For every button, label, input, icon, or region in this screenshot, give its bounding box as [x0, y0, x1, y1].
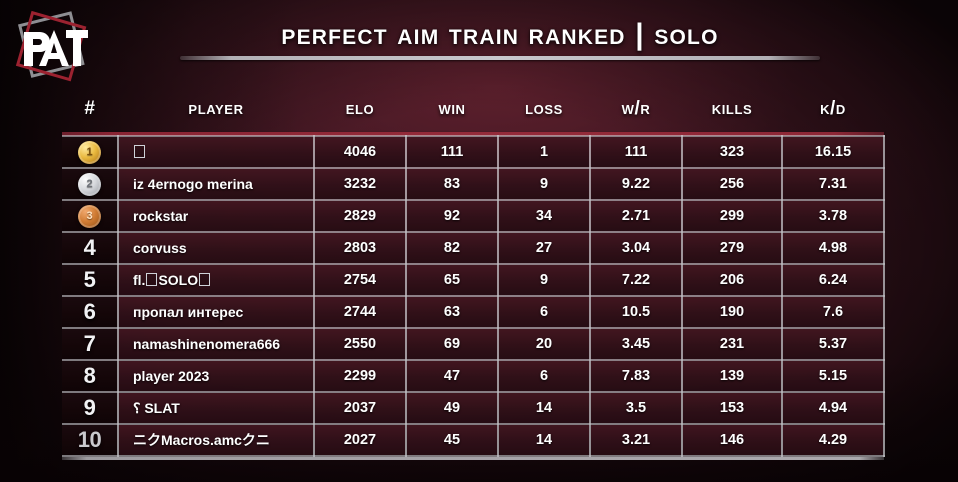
cell-player-name[interactable]: corvuss: [118, 232, 314, 264]
missing-glyph-box: [199, 273, 210, 286]
table-row[interactable]: 5fl.SOLO27546597.222066.24: [62, 264, 884, 296]
cell-rank: 1: [62, 136, 118, 168]
cell-rank: 10: [62, 424, 118, 456]
cell-win: 49: [406, 392, 498, 424]
cell-win: 63: [406, 296, 498, 328]
silver-medal-icon: 2: [78, 173, 101, 196]
cell-rank: 5: [62, 264, 118, 296]
cell-loss: 6: [498, 296, 590, 328]
cell-win-rate: 7.22: [590, 264, 682, 296]
cell-win: 82: [406, 232, 498, 264]
cell-win: 111: [406, 136, 498, 168]
cell-loss: 14: [498, 392, 590, 424]
cell-loss: 9: [498, 168, 590, 200]
cell-win-rate: 10.5: [590, 296, 682, 328]
cell-kills: 146: [682, 424, 782, 456]
rank-number: 4: [84, 237, 96, 259]
medal-rank-number: 1: [86, 146, 92, 158]
rank-number: 5: [84, 269, 96, 291]
rank-number: 9: [84, 397, 96, 419]
cell-rank: 9: [62, 392, 118, 424]
cell-win: 45: [406, 424, 498, 456]
rank-number: 10: [78, 429, 101, 451]
cell-loss: 34: [498, 200, 590, 232]
cell-elo: 2803: [314, 232, 406, 264]
cell-rank: 7: [62, 328, 118, 360]
table-row[interactable]: 8player 202322994767.831395.15: [62, 360, 884, 392]
missing-glyph-box: [134, 145, 145, 158]
rank-number: 8: [84, 365, 96, 387]
table-row[interactable]: 2iz 4ernogo merina32328399.222567.31: [62, 168, 884, 200]
title-underline: [180, 56, 820, 60]
cell-loss: 27: [498, 232, 590, 264]
cell-elo: 2027: [314, 424, 406, 456]
cell-win-rate: 9.22: [590, 168, 682, 200]
cell-rank: 6: [62, 296, 118, 328]
cell-loss: 6: [498, 360, 590, 392]
cell-kills: 256: [682, 168, 782, 200]
table-bottom-rule: [62, 457, 884, 460]
cell-win-rate: 3.45: [590, 328, 682, 360]
page-title-wrap: Perfect Aim Train Ranked | SOLO: [160, 18, 840, 60]
cell-rank: 3: [62, 200, 118, 232]
column-header-loss[interactable]: Loss: [498, 92, 590, 132]
pat-monogram-logo-icon: [12, 8, 96, 86]
cell-kd: 5.15: [782, 360, 884, 392]
cell-kills: 153: [682, 392, 782, 424]
cell-win-rate: 2.71: [590, 200, 682, 232]
cell-elo: 3232: [314, 168, 406, 200]
cell-kills: 206: [682, 264, 782, 296]
table-row[interactable]: 3rockstar282992342.712993.78: [62, 200, 884, 232]
column-header-player[interactable]: Player: [118, 92, 314, 132]
cell-kills: 299: [682, 200, 782, 232]
cell-win: 92: [406, 200, 498, 232]
leaderboard-table: # Player Elo Win Loss W/R Kills K/D 1404…: [62, 92, 885, 457]
missing-glyph-box: [146, 273, 157, 286]
cell-loss: 20: [498, 328, 590, 360]
cell-elo: 2744: [314, 296, 406, 328]
page-title: Perfect Aim Train Ranked | SOLO: [160, 18, 840, 52]
leaderboard: # Player Elo Win Loss W/R Kills K/D 1404…: [62, 92, 884, 460]
table-row[interactable]: 9؟ SLAT203749143.51534.94: [62, 392, 884, 424]
cell-loss: 14: [498, 424, 590, 456]
cell-player-name[interactable]: fl.SOLO: [118, 264, 314, 296]
cell-rank: 8: [62, 360, 118, 392]
cell-elo: 2754: [314, 264, 406, 296]
cell-win: 69: [406, 328, 498, 360]
cell-kd: 4.29: [782, 424, 884, 456]
cell-rank: 4: [62, 232, 118, 264]
cell-kd: 4.94: [782, 392, 884, 424]
cell-elo: 2550: [314, 328, 406, 360]
cell-player-name[interactable]: пропал интерес: [118, 296, 314, 328]
column-header-wr[interactable]: W/R: [590, 92, 682, 132]
cell-loss: 9: [498, 264, 590, 296]
cell-rank: 2: [62, 168, 118, 200]
cell-loss: 1: [498, 136, 590, 168]
table-row[interactable]: 7namashinenomera666255069203.452315.37: [62, 328, 884, 360]
gold-medal-icon: 1: [78, 141, 101, 164]
column-header-kd[interactable]: K/D: [782, 92, 884, 132]
cell-win-rate: 7.83: [590, 360, 682, 392]
cell-kd: 7.31: [782, 168, 884, 200]
cell-win-rate: 3.5: [590, 392, 682, 424]
cell-player-name[interactable]: namashinenomera666: [118, 328, 314, 360]
rank-number: 7: [84, 333, 96, 355]
cell-kills: 323: [682, 136, 782, 168]
column-header-kills[interactable]: Kills: [682, 92, 782, 132]
cell-win: 83: [406, 168, 498, 200]
table-row[interactable]: 6пропал интерес274463610.51907.6: [62, 296, 884, 328]
cell-elo: 4046: [314, 136, 406, 168]
cell-kills: 139: [682, 360, 782, 392]
cell-player-name[interactable]: [118, 136, 314, 168]
rank-number: 6: [84, 301, 96, 323]
table-header: # Player Elo Win Loss W/R Kills K/D: [62, 92, 884, 136]
table-body: 14046111111132316.152iz 4ernogo merina32…: [62, 136, 884, 456]
cell-kd: 3.78: [782, 200, 884, 232]
column-header-win[interactable]: Win: [406, 92, 498, 132]
cell-win: 47: [406, 360, 498, 392]
medal-rank-number: 2: [86, 178, 92, 190]
cell-kd: 6.24: [782, 264, 884, 296]
cell-elo: 2037: [314, 392, 406, 424]
column-header-rank[interactable]: #: [62, 92, 118, 132]
cell-kd: 16.15: [782, 136, 884, 168]
table-header-row: # Player Elo Win Loss W/R Kills K/D: [62, 92, 884, 132]
cell-kd: 5.37: [782, 328, 884, 360]
cell-kd: 7.6: [782, 296, 884, 328]
cell-win-rate: 3.21: [590, 424, 682, 456]
cell-kills: 279: [682, 232, 782, 264]
medal-rank-number: 3: [86, 210, 92, 222]
cell-player-name[interactable]: iz 4ernogo merina: [118, 168, 314, 200]
cell-player-name[interactable]: ニクMacros.amcクニ: [118, 424, 314, 456]
column-header-elo[interactable]: Elo: [314, 92, 406, 132]
cell-win: 65: [406, 264, 498, 296]
cell-win-rate: 3.04: [590, 232, 682, 264]
cell-kd: 4.98: [782, 232, 884, 264]
cell-player-name[interactable]: rockstar: [118, 200, 314, 232]
cell-win-rate: 111: [590, 136, 682, 168]
cell-elo: 2829: [314, 200, 406, 232]
cell-player-name[interactable]: ؟ SLAT: [118, 392, 314, 424]
cell-kills: 190: [682, 296, 782, 328]
table-row[interactable]: 4corvuss280382273.042794.98: [62, 232, 884, 264]
table-row[interactable]: 14046111111132316.15: [62, 136, 884, 168]
cell-elo: 2299: [314, 360, 406, 392]
cell-kills: 231: [682, 328, 782, 360]
cell-player-name[interactable]: player 2023: [118, 360, 314, 392]
bronze-medal-icon: 3: [78, 205, 101, 228]
table-row[interactable]: 10ニクMacros.amcクニ202745143.211464.29: [62, 424, 884, 456]
